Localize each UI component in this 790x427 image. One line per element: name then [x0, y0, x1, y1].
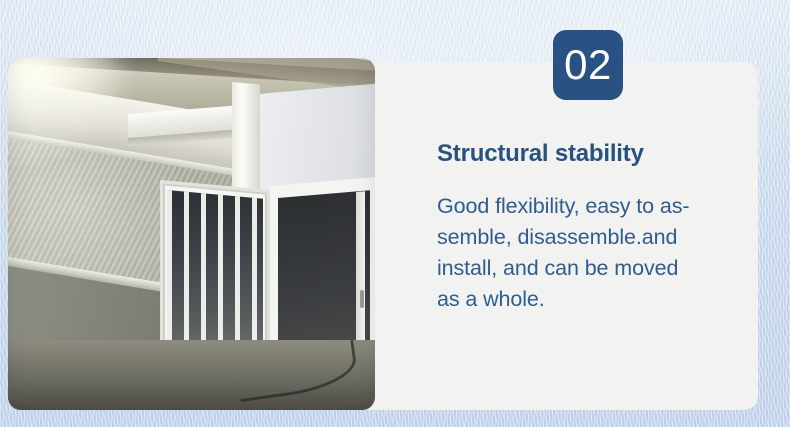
text-block: Structural stability Good flexibility, e… — [437, 140, 742, 315]
step-number-label: 02 — [564, 44, 612, 86]
product-photo — [8, 58, 375, 410]
step-number-badge: 02 — [553, 30, 623, 100]
feature-description: Good flexibility, easy to as- semble, di… — [437, 191, 742, 315]
photo-vignette — [8, 58, 375, 410]
feature-title: Structural stability — [437, 140, 742, 169]
